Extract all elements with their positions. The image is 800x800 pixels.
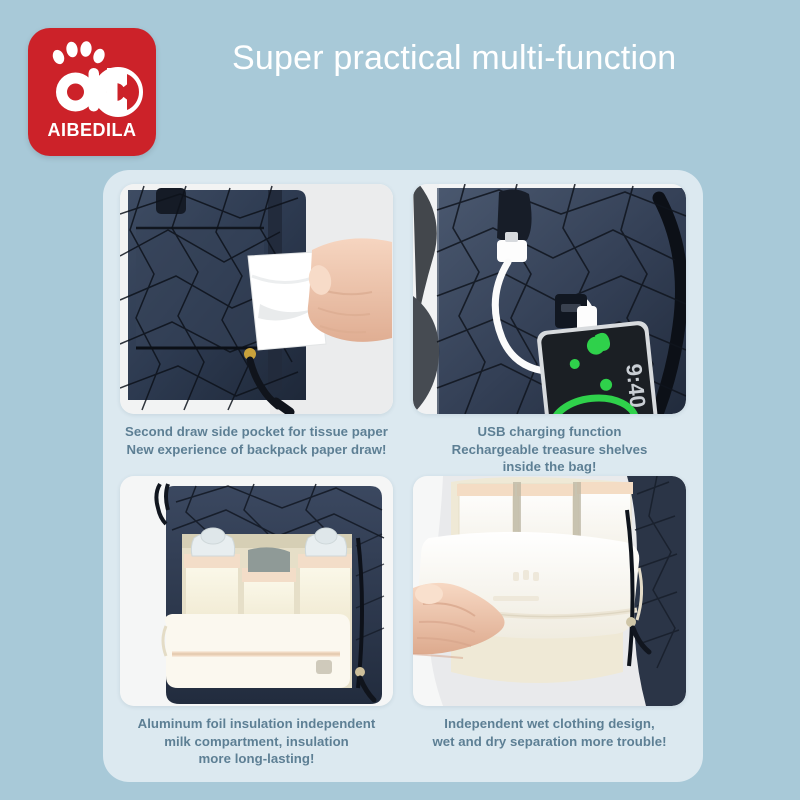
caption-line: more long-lasting!: [120, 750, 393, 768]
panel-caption: Second draw side pocket for tissue paper…: [120, 423, 393, 458]
panel-caption: Aluminum foil insulation independent mil…: [120, 715, 393, 768]
product-photo-milk-compartment: [120, 476, 393, 706]
caption-line: Aluminum foil insulation independent: [120, 715, 393, 733]
panel-caption: Independent wet clothing design, wet and…: [413, 715, 686, 750]
caption-line: milk compartment, insulation: [120, 733, 393, 751]
product-photo-tissue-pocket: [120, 184, 393, 414]
paw-ab-monogram-icon: [28, 38, 156, 120]
brand-name: AIBEDILA: [28, 120, 156, 141]
caption-line: USB charging function: [413, 423, 686, 441]
panel-caption: USB charging function Rechargeable treas…: [413, 423, 686, 476]
product-photo-wet-clothing: [413, 476, 686, 706]
feature-panel-tissue-pocket: Second draw side pocket for tissue paper…: [120, 184, 393, 458]
header-banner: AIBEDILA Super practical multi-function: [0, 0, 800, 170]
caption-line: Second draw side pocket for tissue paper: [120, 423, 393, 441]
feature-panel-usb-charging: 9:40 USB charging function Rechargeable …: [413, 184, 686, 476]
caption-line: wet and dry separation more trouble!: [413, 733, 686, 751]
product-photo-usb-charging: 9:40: [413, 184, 686, 414]
page-title: Super practical multi-function: [232, 36, 788, 80]
caption-line: Independent wet clothing design,: [413, 715, 686, 733]
brand-logo: AIBEDILA: [28, 28, 156, 156]
feature-panel-wet-clothing: Independent wet clothing design, wet and…: [413, 476, 686, 750]
caption-line: Rechargeable treasure shelves: [413, 441, 686, 459]
caption-line: New experience of backpack paper draw!: [120, 441, 393, 459]
caption-line: inside the bag!: [413, 458, 686, 476]
svg-text:9:40: 9:40: [621, 362, 650, 408]
feature-grid: Second draw side pocket for tissue paper…: [120, 184, 686, 768]
feature-panel-milk-compartment: Aluminum foil insulation independent mil…: [120, 476, 393, 768]
